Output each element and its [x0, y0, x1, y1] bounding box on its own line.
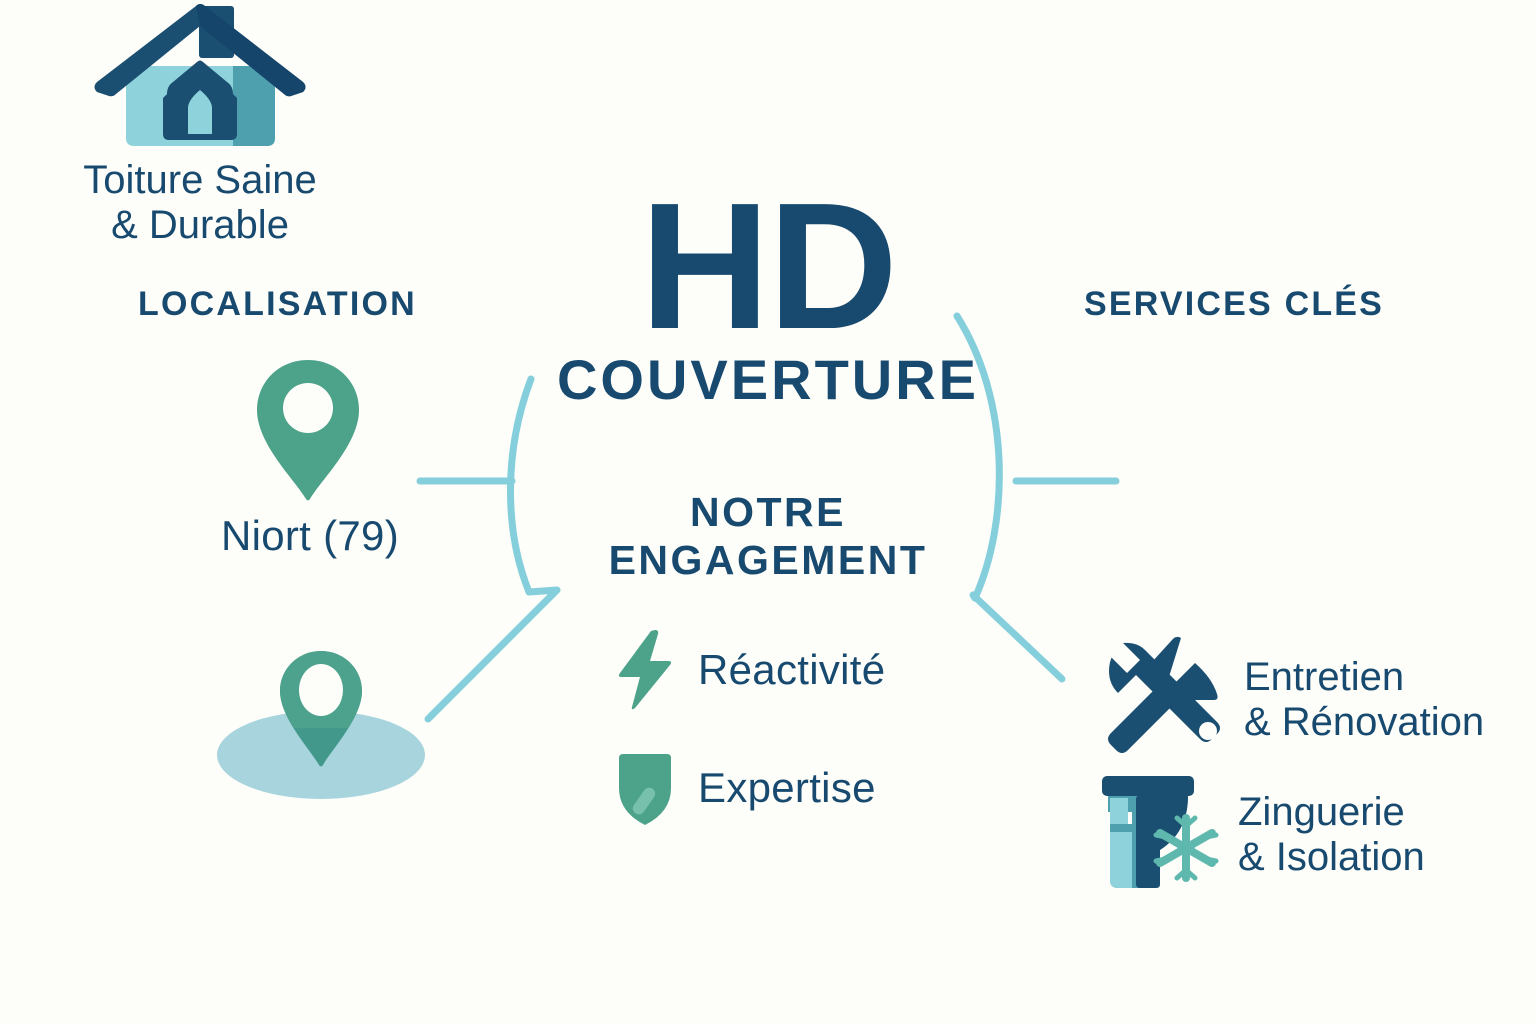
house-roof-icon [0, 0, 400, 150]
brand-subtitle: COUVERTURE [0, 347, 1536, 412]
service-item-line1: Entretien [1244, 655, 1484, 700]
lightning-bolt-icon [606, 629, 684, 711]
engagement-item-label: Expertise [698, 764, 876, 812]
service-item-entretien: Entretien & Rénovation [1088, 634, 1484, 765]
shield-check-icon [606, 748, 684, 828]
engagement-title-line1: NOTRE [518, 488, 1018, 536]
engagement-title-line2: ENGAGEMENT [518, 536, 1018, 584]
localisation-heading: LOCALISATION [138, 285, 417, 324]
engagement-item-expertise: Expertise [606, 745, 1018, 831]
infographic-canvas: HD COUVERTURE NOTRE ENGAGEMENT Réactivit… [0, 0, 1536, 1024]
engagement-list: Réactivité Expertise [518, 627, 1018, 831]
gutter-snowflake-icon [1088, 772, 1228, 897]
localisation-city: Niort (79) [80, 512, 540, 560]
service-item-line2: & Isolation [1238, 835, 1425, 880]
wrench-hammer-icon [1088, 634, 1228, 765]
service-item-zinguerie: Zinguerie & Isolation [1088, 772, 1425, 897]
engagement-item-reactivite: Réactivité [606, 627, 1018, 713]
map-pin-ground-icon [215, 645, 427, 805]
service-item-line1: Zinguerie [1238, 790, 1425, 835]
service-item-label: Entretien & Rénovation [1244, 655, 1484, 745]
map-pin-icon [253, 358, 363, 508]
engagement-item-label: Réactivité [698, 646, 885, 694]
service-item-line2: & Rénovation [1244, 700, 1484, 745]
engagement-block: NOTRE ENGAGEMENT Réactivité Expe [518, 488, 1018, 831]
service-item-label: Zinguerie & Isolation [1238, 790, 1425, 880]
services-heading: SERVICES CLÉS [1084, 285, 1384, 324]
